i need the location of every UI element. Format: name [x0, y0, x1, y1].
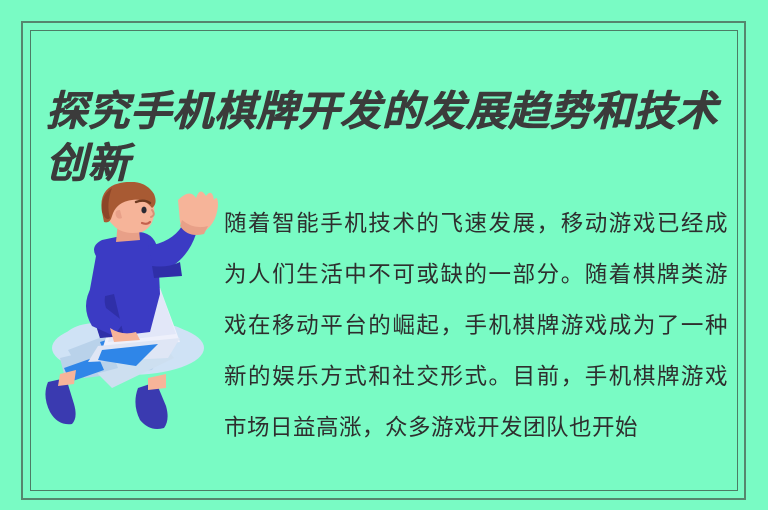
- article-card: 探究手机棋牌开发的发展趋势和技术创新: [0, 0, 768, 510]
- waving-hand: [178, 191, 218, 235]
- article-body-text: 随着智能手机技术的飞速发展，移动游戏已经成为人们生活中不可或缺的一部分。随着棋牌…: [224, 199, 728, 454]
- page-title: 探究手机棋牌开发的发展趋势和技术创新: [46, 85, 736, 189]
- head: [101, 182, 155, 233]
- person-with-laptop-illustration: [40, 182, 222, 430]
- raised-arm: [148, 226, 196, 278]
